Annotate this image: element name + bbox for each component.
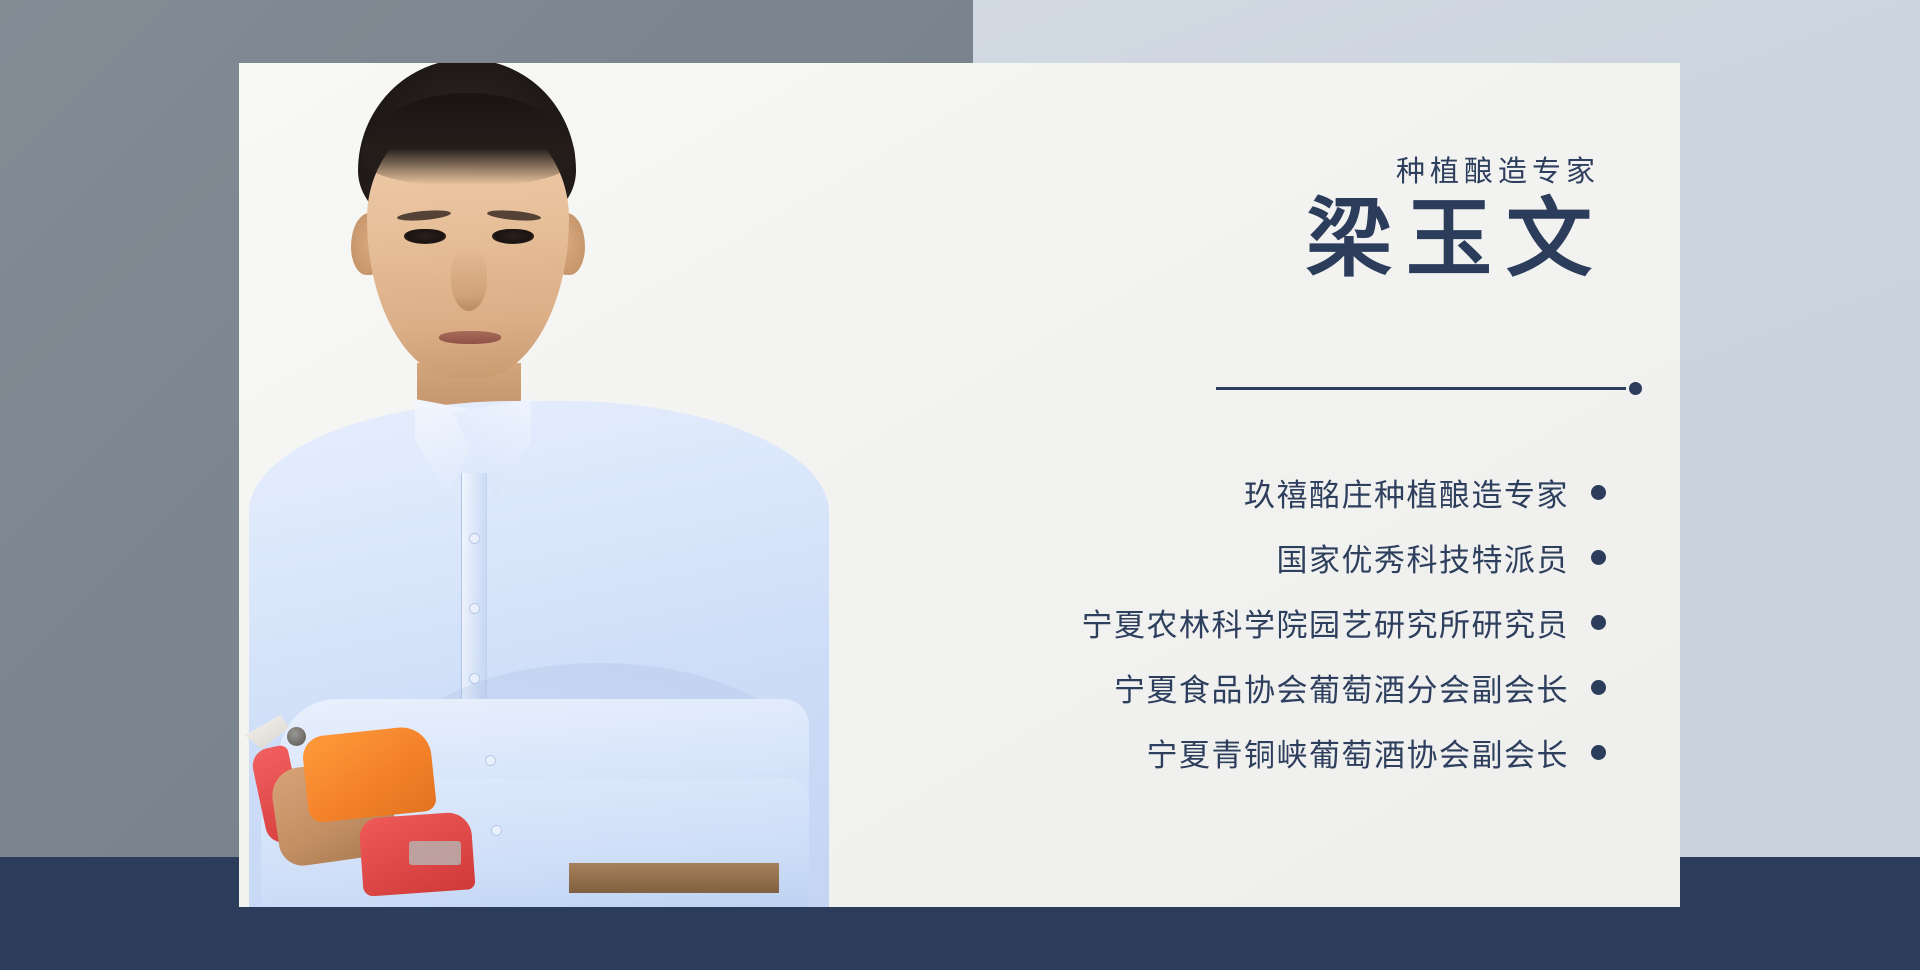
- portrait-photo: [239, 63, 839, 907]
- mouth: [439, 331, 501, 344]
- person-name: 梁玉文: [1306, 194, 1606, 284]
- belt: [569, 863, 779, 893]
- credential-label: 国家优秀科技特派员: [1277, 535, 1570, 580]
- text-column: 种植酿造专家 梁玉文 玖禧酩庄种植酿造专家 国家优秀科技特派员 宁夏农林科学院园…: [920, 63, 1680, 907]
- bullet-dot-icon: [1591, 745, 1606, 760]
- list-item: 宁夏农林科学院园艺研究所研究员: [916, 595, 1606, 649]
- shirt-button: [469, 533, 480, 544]
- list-item: 玖禧酩庄种植酿造专家: [916, 465, 1606, 519]
- credentials-list: 玖禧酩庄种植酿造专家 国家优秀科技特派员 宁夏农林科学院园艺研究所研究员 宁夏食…: [916, 465, 1606, 790]
- credential-label: 宁夏农林科学院园艺研究所研究员: [1082, 600, 1570, 645]
- list-item: 宁夏食品协会葡萄酒分会副会长: [916, 660, 1606, 714]
- eye-right: [492, 229, 534, 244]
- credential-label: 玖禧酩庄种植酿造专家: [1244, 470, 1569, 515]
- cuff-button: [485, 755, 496, 766]
- pruning-shears-pivot: [287, 727, 306, 746]
- bullet-dot-icon: [1591, 615, 1606, 630]
- divider-end-dot: [1629, 382, 1642, 395]
- list-item: 国家优秀科技特派员: [916, 530, 1606, 584]
- bullet-dot-icon: [1591, 550, 1606, 565]
- divider: [1216, 382, 1642, 394]
- cuff-button: [491, 825, 502, 836]
- profile-card: 种植酿造专家 梁玉文 玖禧酩庄种植酿造专家 国家优秀科技特派员 宁夏农林科学院园…: [239, 63, 1680, 907]
- pruning-shears-label: [409, 841, 461, 865]
- nose: [451, 249, 487, 311]
- subtitle: 种植酿造专家: [1396, 148, 1600, 190]
- list-item: 宁夏青铜峡葡萄酒协会副会长: [916, 725, 1606, 779]
- divider-line: [1216, 387, 1626, 390]
- eye-left: [404, 229, 446, 244]
- credential-label: 宁夏食品协会葡萄酒分会副会长: [1114, 665, 1569, 710]
- bullet-dot-icon: [1591, 680, 1606, 695]
- credential-label: 宁夏青铜峡葡萄酒协会副会长: [1147, 730, 1570, 775]
- work-glove-orange: [301, 725, 437, 824]
- shirt-button: [469, 603, 480, 614]
- bullet-dot-icon: [1591, 485, 1606, 500]
